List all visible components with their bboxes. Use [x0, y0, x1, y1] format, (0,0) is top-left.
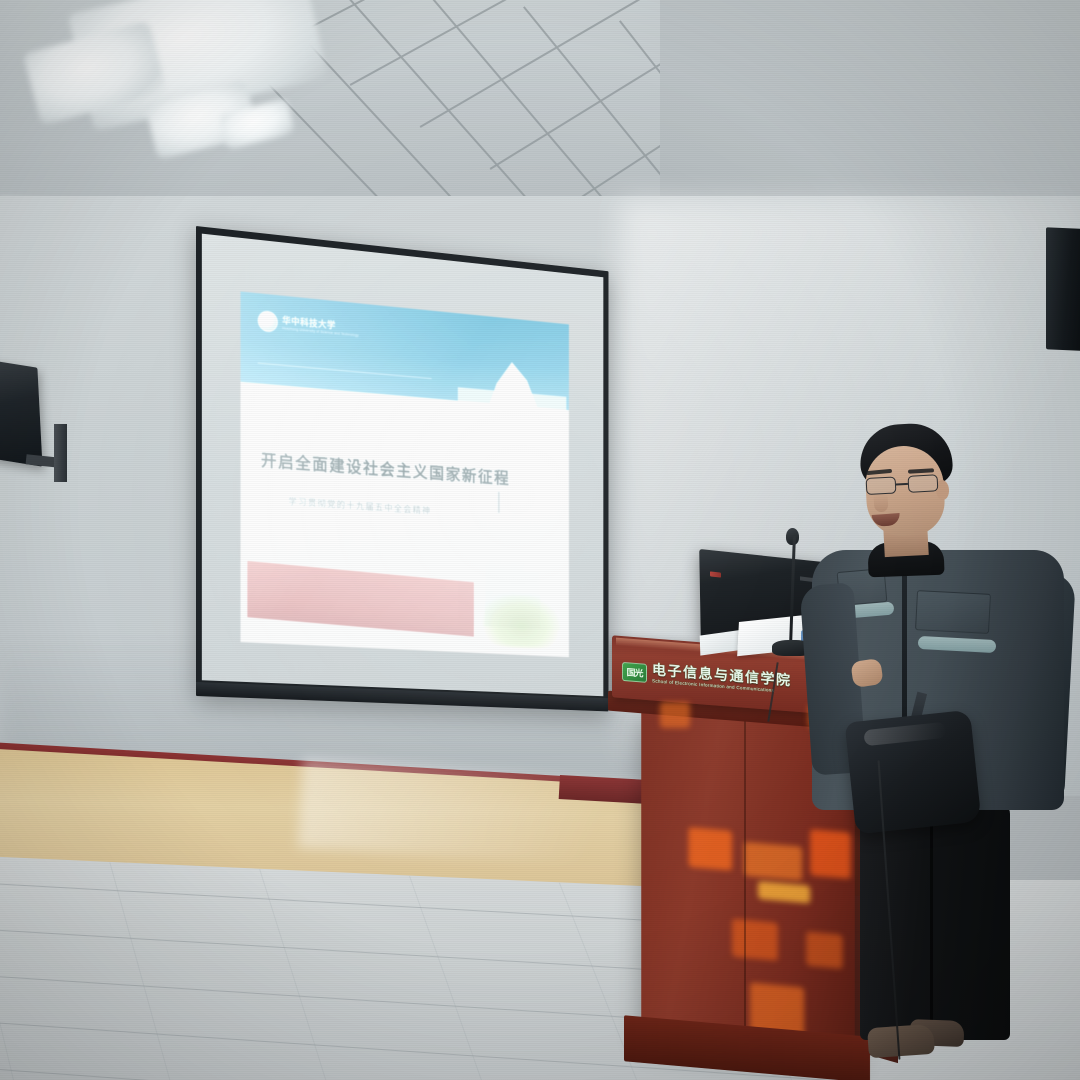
nameplate-text: 电子信息与通信学院 School of Electronic Informati…	[652, 663, 792, 696]
slide-foliage	[481, 592, 563, 650]
floor-tile-seam	[0, 855, 18, 1080]
lecture-hall-photo: 华中科技大学 Huazhong University of Science an…	[0, 0, 1080, 1080]
jacket-pocket-chest	[915, 590, 991, 634]
slide-red-band	[247, 561, 474, 637]
floor-tile-seam	[109, 862, 176, 1080]
slide-logo-text: 华中科技大学 Huazhong University of Science an…	[282, 316, 359, 337]
podium-reflection-1	[688, 827, 732, 871]
slide-accent-mark	[498, 492, 500, 513]
screen-surface: 华中科技大学 Huazhong University of Science an…	[202, 234, 603, 697]
podium-reflection-2	[744, 842, 802, 881]
display-wall-bracket	[54, 424, 67, 482]
display-screen	[0, 359, 43, 466]
glasses-bridge	[896, 483, 908, 485]
podium-reflection-5	[732, 919, 778, 961]
speaker-nose	[873, 494, 888, 513]
glasses-lens-right	[908, 474, 939, 493]
podium-reflection-4	[758, 881, 810, 904]
projection-screen: 华中科技大学 Huazhong University of Science an…	[196, 226, 608, 711]
hust-seal-icon	[257, 310, 277, 333]
speaker-person	[806, 424, 1076, 1080]
glasses-lens-left	[866, 476, 897, 495]
wall-mounted-display	[0, 360, 118, 510]
wall-panel-right	[1046, 227, 1080, 350]
school-emblem-icon: 国光	[622, 661, 647, 682]
speaker-shoe-front	[867, 1024, 935, 1059]
projected-slide: 华中科技大学 Huazhong University of Science an…	[240, 291, 569, 657]
